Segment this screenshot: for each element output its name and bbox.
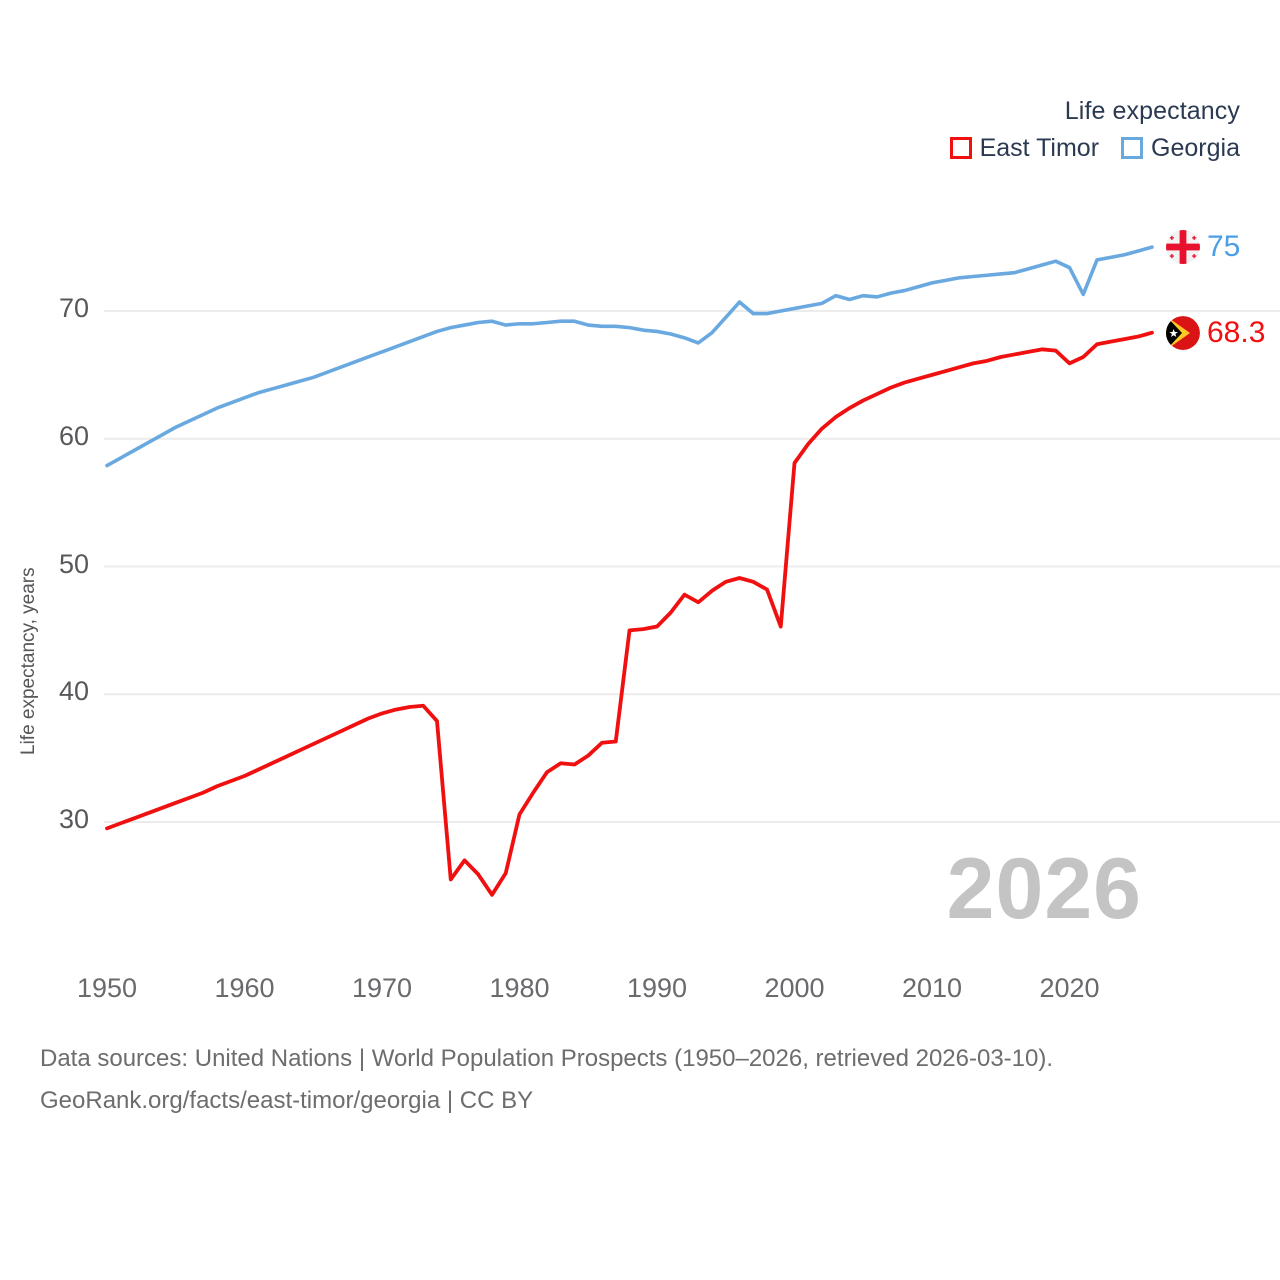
chart-footer: Data sources: United Nations | World Pop… — [40, 1038, 1220, 1122]
plot-area: Life expectancy, years 3040506070 195019… — [0, 0, 1280, 1030]
end-label-east-timor: 68.3 — [1166, 316, 1265, 350]
flag-georgia-icon — [1166, 230, 1200, 264]
x-tick-1960: 1960 — [185, 973, 305, 1004]
y-tick-50: 50 — [29, 549, 89, 580]
y-tick-30: 30 — [29, 804, 89, 835]
x-tick-2000: 2000 — [735, 973, 855, 1004]
x-tick-1950: 1950 — [47, 973, 167, 1004]
y-tick-60: 60 — [29, 421, 89, 452]
y-tick-40: 40 — [29, 676, 89, 707]
footer-line-sources: Data sources: United Nations | World Pop… — [40, 1038, 1220, 1080]
series-line-georgia — [107, 247, 1152, 465]
flag-east-timor-icon — [1166, 316, 1200, 350]
y-tick-70: 70 — [29, 293, 89, 324]
series-line-east-timor — [107, 333, 1152, 895]
chart-page: Life expectancy East Timor Georgia Life … — [0, 0, 1280, 1280]
year-watermark: 2026 — [947, 846, 1142, 932]
end-value-east-timor: 68.3 — [1207, 318, 1265, 348]
x-tick-1980: 1980 — [460, 973, 580, 1004]
x-tick-2020: 2020 — [1010, 973, 1130, 1004]
end-value-georgia: 75 — [1207, 232, 1240, 262]
chart-series — [107, 247, 1152, 895]
x-tick-1990: 1990 — [597, 973, 717, 1004]
footer-line-attribution[interactable]: GeoRank.org/facts/east-timor/georgia | C… — [40, 1080, 1220, 1122]
end-label-georgia: 75 — [1166, 230, 1240, 264]
x-tick-1970: 1970 — [322, 973, 442, 1004]
x-tick-2010: 2010 — [872, 973, 992, 1004]
